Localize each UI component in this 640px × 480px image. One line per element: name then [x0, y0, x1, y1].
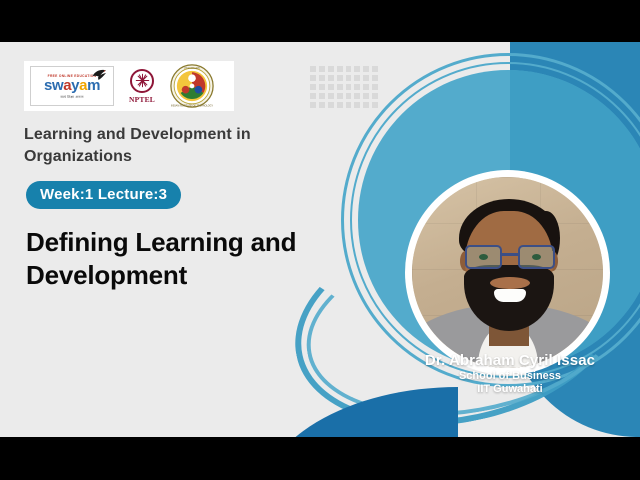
- photo-eye-right: [532, 254, 541, 260]
- presenter-institute: IIT Guwahati: [380, 383, 640, 396]
- nptel-logo: NPTEL: [122, 65, 162, 107]
- presenter-photo: [412, 177, 603, 368]
- eyeglass-bridge: [502, 253, 518, 256]
- week-lecture-badge: Week:1 Lecture:3: [26, 181, 181, 209]
- photo-eyeglasses: [463, 245, 557, 269]
- swayam-letter-3: a: [63, 77, 71, 94]
- nptel-emblem-icon: [130, 69, 154, 93]
- swayam-letter-5: a: [79, 77, 87, 94]
- photo-smile-teeth: [494, 289, 526, 302]
- photo-chin-highlight: [490, 277, 530, 289]
- letterbox-top-bar: [0, 0, 640, 42]
- nptel-wordmark: NPTEL: [129, 95, 155, 104]
- swayam-bird-icon: [91, 68, 107, 82]
- presenter-department: School of Business: [380, 370, 640, 383]
- nptel-star-icon: [135, 73, 150, 88]
- presenter-name: Dr. Abraham Cyril Issac: [380, 352, 640, 370]
- svg-text:IIT GUWAHATI: IIT GUWAHATI: [184, 67, 200, 70]
- swayam-logo: FREE ONLINE EDUCATION swayam स्वयं शिक्ष…: [30, 66, 114, 106]
- video-player: Dr. Abraham Cyril Issac School of Busine…: [0, 0, 640, 480]
- lecture-title-slide: Dr. Abraham Cyril Issac School of Busine…: [0, 42, 640, 437]
- slide-content-column: FREE ONLINE EDUCATION swayam स्वयं शिक्ष…: [24, 42, 354, 437]
- course-title: Learning and Development in Organization…: [24, 124, 324, 168]
- letterbox-bottom-bar: [0, 437, 640, 480]
- photo-eye-left: [479, 254, 488, 260]
- iitg-emblem-icon: IIT GUWAHATI INDIAN INSTITUTE OF TECHNOL…: [170, 64, 214, 108]
- swayam-subtitle: स्वयं शिक्षा अनन्त: [60, 94, 83, 99]
- presenter-avatar-ring: [405, 170, 610, 375]
- swayam-letter-2: w: [52, 77, 63, 94]
- swayam-letter-4: y: [71, 77, 79, 94]
- logo-strip: FREE ONLINE EDUCATION swayam स्वयं शिक्ष…: [24, 61, 234, 111]
- iit-guwahati-logo: IIT GUWAHATI INDIAN INSTITUTE OF TECHNOL…: [170, 64, 214, 108]
- presenter-info-block: Dr. Abraham Cyril Issac School of Busine…: [380, 352, 640, 396]
- lecture-title: Defining Learning and Development: [26, 226, 346, 292]
- svg-text:INDIAN INSTITUTE OF TECHNOLOGY: INDIAN INSTITUTE OF TECHNOLOGY: [171, 104, 214, 107]
- swayam-letter-1: s: [44, 77, 52, 94]
